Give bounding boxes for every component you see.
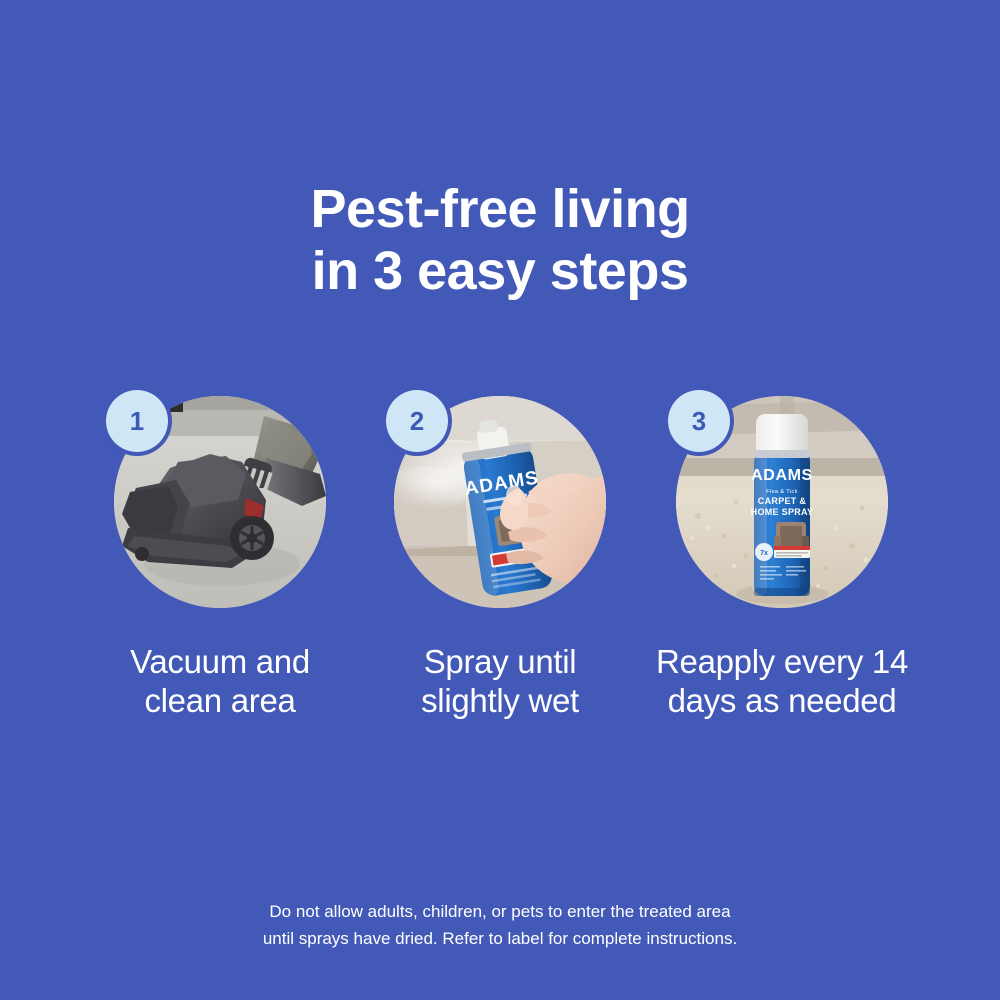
- svg-text:7x: 7x: [760, 550, 768, 557]
- step-1-caption: Vacuum and clean area: [70, 642, 370, 720]
- headline-line-2: in 3 easy steps: [0, 240, 1000, 302]
- step-3-photo-wrap: ADAMS Flea & Tick CARPET & HOME SPRAY 7x: [676, 396, 888, 608]
- step-badge-1: 1: [106, 390, 168, 452]
- step-item-3: ADAMS Flea & Tick CARPET & HOME SPRAY 7x: [632, 396, 932, 720]
- promo-poster: Pest-free living in 3 easy steps: [0, 0, 1000, 1000]
- headline-line-1: Pest-free living: [0, 178, 1000, 240]
- step-badge-3: 3: [668, 390, 730, 452]
- disclaimer-line-1: Do not allow adults, children, or pets t…: [0, 898, 1000, 925]
- step-2-caption-line-1: Spray until: [350, 642, 650, 681]
- svg-text:ADAMS: ADAMS: [751, 467, 813, 484]
- disclaimer-line-2: until sprays have dried. Refer to label …: [0, 925, 1000, 952]
- page-title: Pest-free living in 3 easy steps: [0, 178, 1000, 302]
- svg-text:CARPET &: CARPET &: [758, 496, 807, 506]
- step-badge-2: 2: [386, 390, 448, 452]
- step-3-caption-line-1: Reapply every 14: [632, 642, 932, 681]
- svg-text:HOME SPRAY: HOME SPRAY: [751, 507, 814, 517]
- step-1-caption-line-1: Vacuum and: [70, 642, 370, 681]
- step-item-2: ADAMS: [350, 396, 650, 720]
- step-item-1: 1 Vacuum and clean area: [70, 396, 370, 720]
- step-3-caption: Reapply every 14 days as needed: [632, 642, 932, 720]
- disclaimer-text: Do not allow adults, children, or pets t…: [0, 898, 1000, 952]
- step-1-caption-line-2: clean area: [70, 681, 370, 720]
- steps-row: 1 Vacuum and clean area: [0, 396, 1000, 736]
- step-3-caption-line-2: days as needed: [632, 681, 932, 720]
- step-2-caption-line-2: slightly wet: [350, 681, 650, 720]
- step-2-caption: Spray until slightly wet: [350, 642, 650, 720]
- step-1-photo-wrap: 1: [114, 396, 326, 608]
- svg-text:Flea & Tick: Flea & Tick: [766, 489, 798, 495]
- step-2-photo-wrap: ADAMS: [394, 396, 606, 608]
